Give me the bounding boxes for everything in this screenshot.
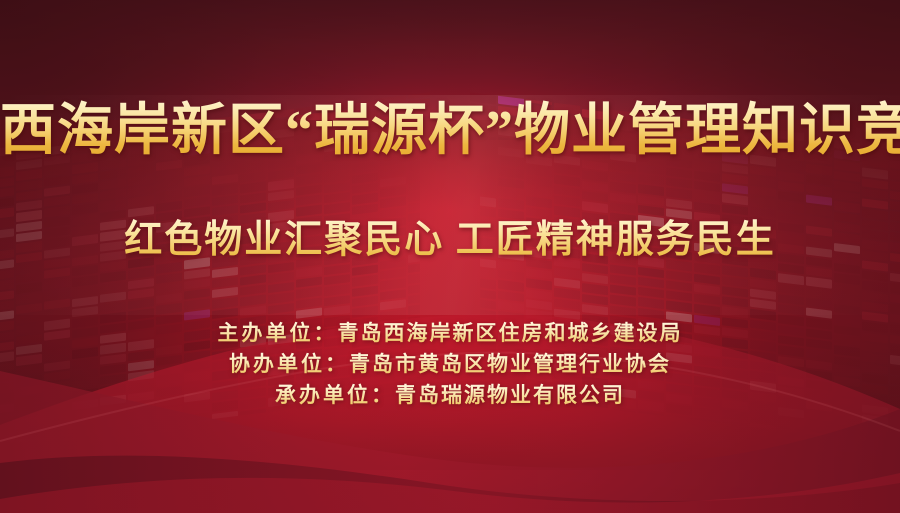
organizer-label-host: 主办单位： [218,321,338,345]
organizer-line-coorganizer: 协办单位：青岛市黄岛区物业管理行业协会 [0,349,900,380]
banner-content: 西海岸新区“瑞源杯”物业管理知识竞赛 红色物业汇聚民心 工匠精神服务民生 主办单… [0,0,900,513]
organizer-line-host: 主办单位：青岛西海岸新区住房和城乡建设局 [0,318,900,349]
organizer-list: 主办单位：青岛西海岸新区住房和城乡建设局 协办单位：青岛市黄岛区物业管理行业协会… [0,318,900,411]
organizer-line-undertaker: 承办单位：青岛瑞源物业有限公司 [0,380,900,411]
organizer-label-coorganizer: 协办单位： [229,352,349,376]
banner-poster: 西海岸新区“瑞源杯”物业管理知识竞赛 红色物业汇聚民心 工匠精神服务民生 主办单… [0,0,900,513]
organizer-value-host: 青岛西海岸新区住房和城乡建设局 [338,321,683,345]
organizer-label-undertaker: 承办单位： [275,383,395,407]
banner-subtitle: 红色物业汇聚民心 工匠精神服务民生 [0,217,900,263]
organizer-value-coorganizer: 青岛市黄岛区物业管理行业协会 [349,352,671,376]
organizer-value-undertaker: 青岛瑞源物业有限公司 [395,383,625,407]
page-title: 西海岸新区“瑞源杯”物业管理知识竞赛 [0,99,900,163]
